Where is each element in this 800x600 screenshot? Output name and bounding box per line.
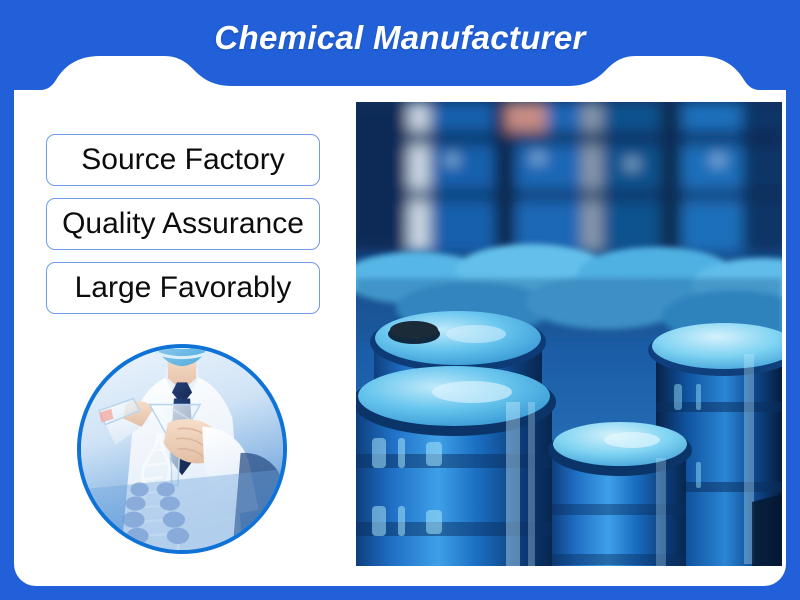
promo-banner-page: Source Factory Quality Assurance Large F… bbox=[0, 0, 800, 600]
feature-label: Quality Assurance bbox=[62, 209, 304, 239]
feature-box-large-favorably[interactable]: Large Favorably bbox=[46, 262, 320, 314]
feature-label: Large Favorably bbox=[75, 273, 292, 303]
feature-box-quality-assurance[interactable]: Quality Assurance bbox=[46, 198, 320, 250]
blue-chemical-barrels-photo bbox=[356, 102, 782, 566]
feature-label: Source Factory bbox=[81, 145, 284, 175]
content-card: Source Factory Quality Assurance Large F… bbox=[14, 14, 786, 586]
lab-scientist-photo bbox=[77, 344, 287, 554]
feature-box-source-factory[interactable]: Source Factory bbox=[46, 134, 320, 186]
feature-list: Source Factory Quality Assurance Large F… bbox=[46, 134, 320, 314]
